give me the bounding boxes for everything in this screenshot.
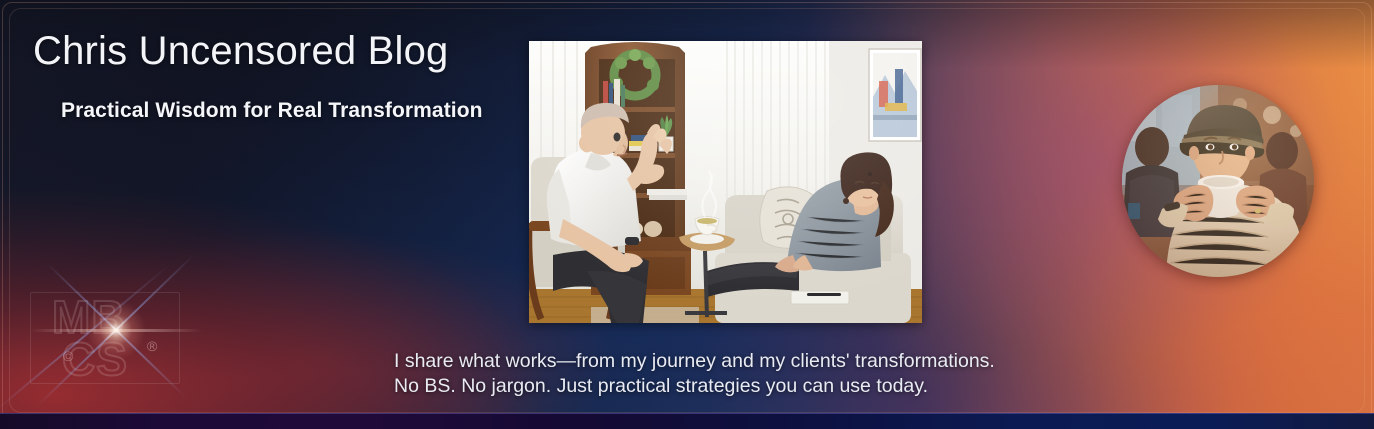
registered-trademark-icon: ® [147, 338, 157, 354]
tagline-line-1: I share what works—from my journey and m… [394, 349, 995, 374]
therapy-session-photo [529, 41, 922, 323]
tagline-line-2: No BS. No jargon. Just practical strateg… [394, 374, 995, 399]
author-portrait-illustration [1122, 85, 1314, 277]
bottom-accent-strip [0, 413, 1374, 429]
page-title: Chris Uncensored Blog [33, 29, 449, 74]
watermark-line-2: CS [62, 333, 128, 385]
author-portrait [1122, 85, 1314, 277]
therapy-session-illustration [529, 41, 922, 323]
watermark-letters: MB CS [52, 296, 128, 380]
page-subtitle: Practical Wisdom for Real Transformation [61, 99, 483, 123]
tagline: I share what works—from my journey and m… [394, 349, 995, 399]
watermark-frame [30, 292, 180, 384]
flare-streak-2 [38, 254, 195, 405]
blog-header-banner: MB CS © ® Chris Uncensored Blog Practica… [0, 0, 1374, 429]
mbcs-watermark: MB CS © ® [30, 292, 180, 384]
flare-core [86, 300, 146, 360]
flare-streak-horizontal [30, 329, 202, 332]
copyright-icon: © [63, 348, 73, 364]
flare-streak-3 [0, 264, 170, 413]
watermark-line-1: MB [52, 291, 126, 343]
flare-streak-1 [46, 263, 186, 398]
